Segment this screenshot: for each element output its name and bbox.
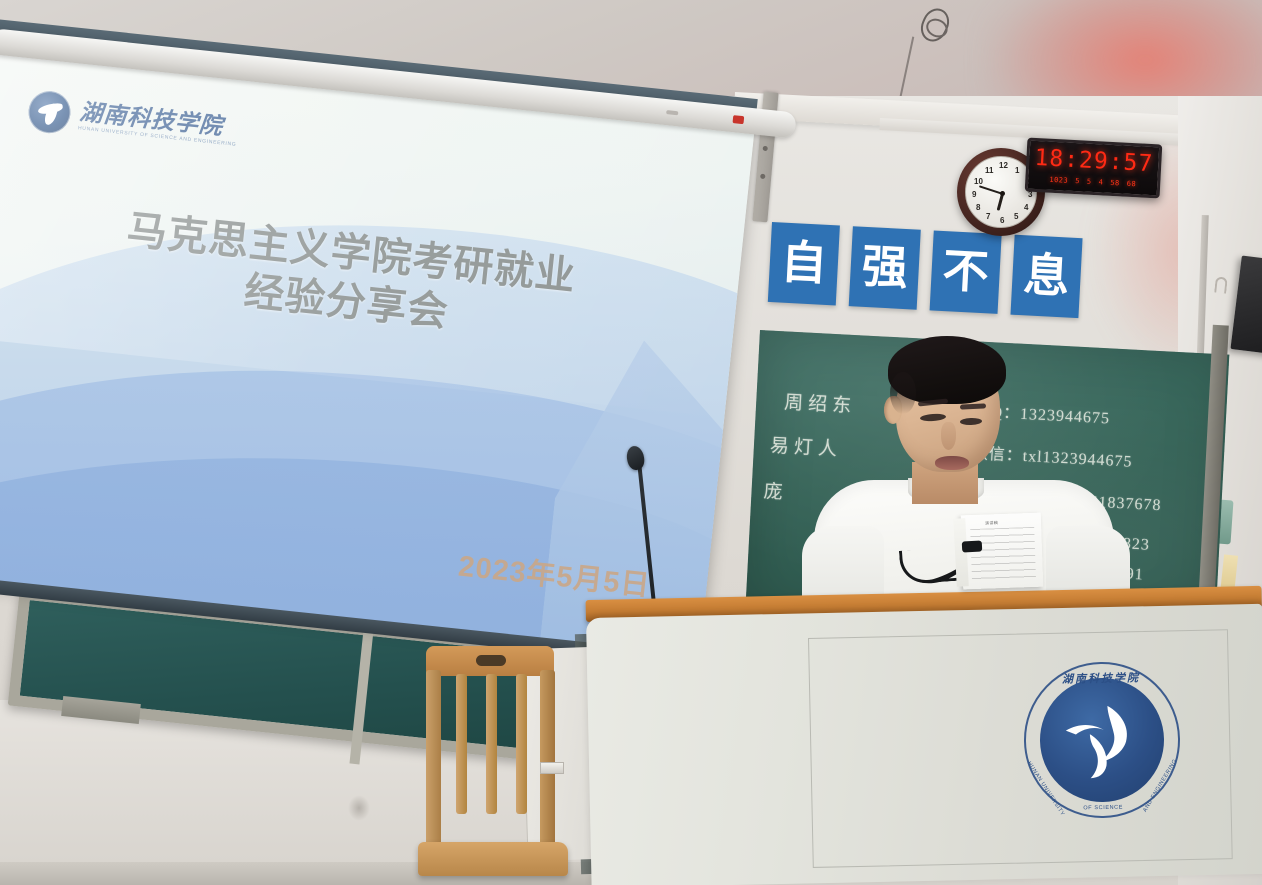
clock-num-5: 5 bbox=[1014, 212, 1018, 221]
roller-label-grey bbox=[666, 110, 678, 115]
motto-char-4: 息 bbox=[1022, 252, 1070, 300]
screen-surface: 湖南科技学院 HUNAN UNIVERSITY OF SCIENCE AND E… bbox=[0, 38, 756, 656]
emblem-name-cn: 湖南科技学院 bbox=[1023, 669, 1179, 688]
clock-num-1: 1 bbox=[1015, 166, 1019, 175]
emblem-bird-icon bbox=[1059, 699, 1144, 780]
wall-hook-icon bbox=[1214, 276, 1228, 293]
speaker-nose bbox=[941, 422, 956, 450]
chair-slat-3 bbox=[516, 674, 527, 814]
clock-center-pin bbox=[1000, 191, 1005, 196]
digital-led-clock: 18:29:57 1023 5 5 4 58 68 bbox=[1025, 138, 1163, 199]
chalk-name-3: 庞 bbox=[763, 476, 788, 504]
motto-panel-4: 息 bbox=[1010, 235, 1082, 318]
motto-panel-1: 自 bbox=[768, 222, 840, 305]
wall-smudge bbox=[348, 795, 370, 821]
clock-num-9: 9 bbox=[972, 190, 976, 199]
chair-handle-cutout bbox=[476, 655, 506, 666]
roller-label-red bbox=[732, 115, 744, 124]
led-seg-1: 1023 bbox=[1049, 176, 1068, 185]
clock-num-6: 6 bbox=[1000, 216, 1004, 225]
paper-text-lines bbox=[970, 527, 1036, 583]
motto-char-2: 强 bbox=[861, 244, 909, 292]
led-sub-display: 1023 5 5 4 58 68 bbox=[1049, 176, 1136, 189]
clock-num-8: 8 bbox=[976, 203, 980, 212]
chair-seat bbox=[418, 842, 568, 876]
cabinet-handle[interactable] bbox=[540, 762, 564, 774]
clock-num-12: 12 bbox=[999, 161, 1008, 170]
led-seg-6: 68 bbox=[1127, 180, 1137, 188]
chair-slat-1 bbox=[456, 674, 467, 814]
clock-num-7: 7 bbox=[986, 212, 990, 221]
university-emblem-icon bbox=[26, 89, 72, 135]
speaker-mouth bbox=[935, 456, 969, 470]
microphone-plug bbox=[962, 540, 983, 552]
led-seg-2: 5 bbox=[1075, 177, 1080, 185]
motto-panel-3: 不 bbox=[930, 230, 1002, 313]
motto-panels: 自 强 不 息 bbox=[768, 222, 1083, 318]
paper-heading: 演讲稿 bbox=[985, 520, 998, 526]
led-seg-4: 4 bbox=[1098, 178, 1103, 186]
chair-stile-left bbox=[426, 670, 441, 870]
speaker-hair bbox=[888, 336, 1006, 404]
led-seg-5: 58 bbox=[1110, 179, 1120, 187]
chair-slat-2 bbox=[486, 674, 497, 814]
led-time-display: 18:29:57 bbox=[1034, 147, 1154, 176]
podium-university-emblem: 湖南科技学院 HUNAN UNIVERSITY AND ENGINEERING … bbox=[1023, 661, 1182, 820]
clock-num-11: 11 bbox=[985, 166, 993, 175]
classroom-photo-scene: 周绍东 易灯人 庞 QQ：1323944675 微信：txl1323944675… bbox=[0, 0, 1262, 885]
clock-num-10: 10 bbox=[974, 177, 983, 186]
motto-char-3: 不 bbox=[941, 248, 989, 296]
motto-char-1: 自 bbox=[780, 240, 828, 288]
led-seg-3: 5 bbox=[1087, 178, 1092, 186]
ceiling-cable-coil bbox=[916, 4, 954, 46]
motto-panel-2: 强 bbox=[849, 226, 921, 309]
clock-num-4: 4 bbox=[1024, 203, 1028, 212]
